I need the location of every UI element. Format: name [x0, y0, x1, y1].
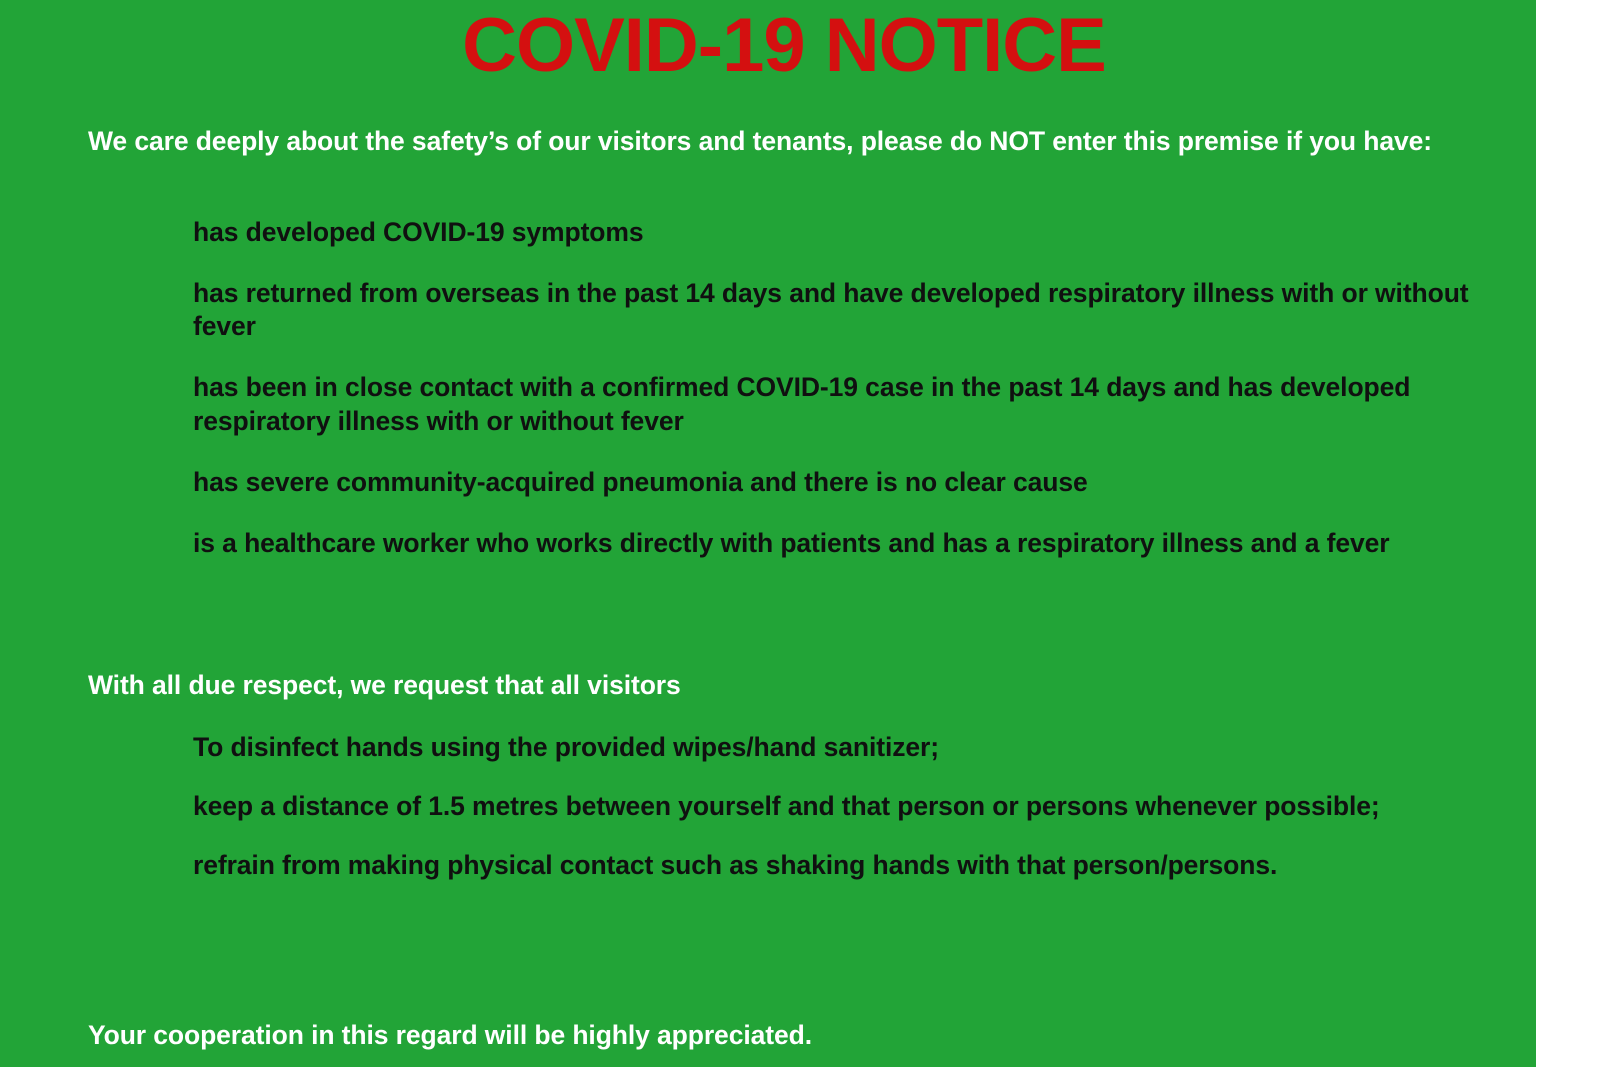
right-edge-strip	[1536, 0, 1568, 1067]
list-item: has severe community-acquired pneumonia …	[193, 466, 1493, 499]
list-item: refrain from making physical contact suc…	[193, 849, 1493, 882]
covid-notice-poster: COVID-19 NOTICE We care deeply about the…	[0, 0, 1568, 1067]
closing-line: Your cooperation in this regard will be …	[88, 1018, 1480, 1052]
request-list: To disinfect hands using the provided wi…	[193, 731, 1493, 908]
list-item: To disinfect hands using the provided wi…	[193, 731, 1493, 764]
list-item: has returned from overseas in the past 1…	[193, 277, 1493, 343]
list-item: has been in close contact with a confirm…	[193, 371, 1493, 437]
symptom-list: has developed COVID-19 symptoms has retu…	[193, 216, 1493, 588]
intro-paragraph: We care deeply about the safety’s of our…	[88, 124, 1480, 158]
page-title: COVID-19 NOTICE	[0, 0, 1568, 84]
list-item: is a healthcare worker who works directl…	[193, 527, 1493, 560]
list-item: has developed COVID-19 symptoms	[193, 216, 1493, 249]
requests-heading: With all due respect, we request that al…	[88, 668, 1480, 702]
list-item: keep a distance of 1.5 metres between yo…	[193, 790, 1493, 823]
